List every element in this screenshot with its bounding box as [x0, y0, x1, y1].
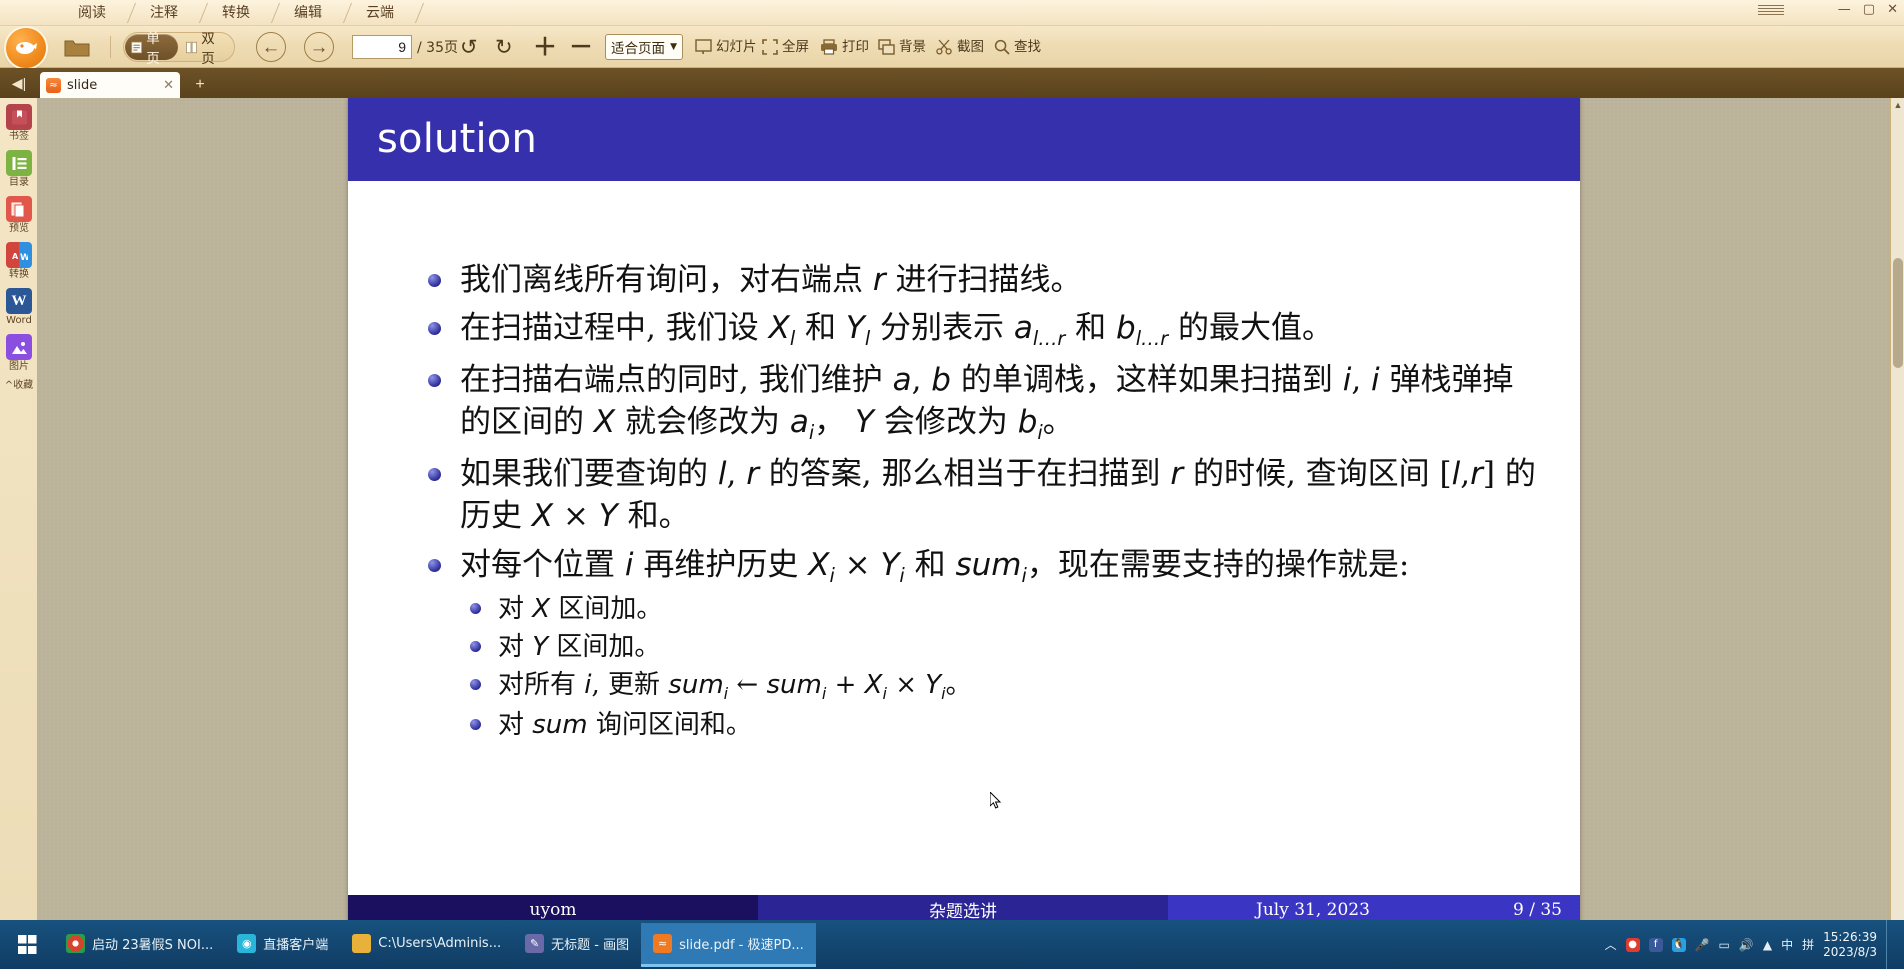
sidebar-label-outline: 目录: [0, 177, 38, 188]
toolbar-divider: [110, 36, 111, 58]
taskbar-clock[interactable]: 15:26:39 2023/8/3: [1823, 930, 1877, 960]
main-toolbar: 单页 双页 ← → 9 / 35页 ↺ ↻ ＋ － 适合页面 ▼ 幻灯片 全屏: [0, 26, 1904, 68]
taskbar-label: 无标题 - 画图: [551, 934, 629, 953]
sidebar-item-word[interactable]: W Word: [0, 288, 38, 326]
menu-tab-cloud[interactable]: 云端: [350, 0, 410, 26]
network-icon[interactable]: ▲: [1763, 938, 1772, 952]
slideshow-label: 幻灯片: [716, 34, 757, 60]
live-client-icon: ◉: [237, 934, 256, 953]
sidebar-item-convert[interactable]: AW 转换: [0, 242, 38, 280]
slide-title: solution: [348, 98, 1580, 181]
slideshow-button[interactable]: 幻灯片: [695, 34, 757, 60]
mic-icon[interactable]: 🎤: [1695, 938, 1710, 952]
outline-icon: [6, 150, 32, 176]
fullscreen-button[interactable]: 全屏: [762, 34, 809, 60]
sidebar-item-preview[interactable]: 预览: [0, 196, 38, 234]
maximize-icon[interactable]: ▢: [1863, 2, 1875, 17]
screenshot-label: 截图: [957, 34, 984, 60]
view-mode-single-page[interactable]: 单页: [125, 34, 178, 60]
window-drag-handle[interactable]: [1758, 5, 1784, 15]
sub-bullet-item: 对所有 i, 更新 sumi ← sumi + Xi × Yi。: [460, 667, 1540, 706]
bullet-list-level1: 我们离线所有询问，对右端点 r 进行扫描线。 在扫描过程中, 我们设 Xl 和 …: [420, 259, 1540, 744]
fullscreen-label: 全屏: [782, 34, 809, 60]
bullet-item: 在扫描过程中, 我们设 Xl 和 Yl 分别表示 al…r 和 bl…r 的最大…: [420, 307, 1540, 353]
page-total-label: / 35页: [417, 37, 458, 57]
sidebar-label-preview: 预览: [0, 223, 38, 234]
search-icon: [994, 39, 1010, 55]
bullet-item: 在扫描右端点的同时, 我们维护 a, b 的单调栈，这样如果扫描到 i, i 弹…: [420, 359, 1540, 447]
document-viewport[interactable]: solution 我们离线所有询问，对右端点 r 进行扫描线。 在扫描过程中, …: [38, 98, 1904, 951]
collapse-left-icon[interactable]: ◀|: [6, 73, 32, 93]
taskbar-item-chrome[interactable]: 启动 23暑假S NOI...: [54, 923, 225, 967]
bookmark-icon: [6, 104, 32, 130]
document-tab-bar: ◀| ≈ slide ✕ +: [0, 68, 1904, 98]
fullscreen-icon: [762, 39, 778, 55]
new-tab-button[interactable]: +: [190, 75, 210, 95]
sidebar-item-image[interactable]: 图片: [0, 334, 38, 372]
scrollbar-thumb[interactable]: [1893, 258, 1903, 368]
app-logo-icon: [6, 28, 46, 68]
minimize-icon[interactable]: —: [1838, 2, 1851, 17]
zoom-in-button[interactable]: ＋: [533, 34, 557, 60]
left-sidebar: 书签 目录 预览 AW 转换 W Word 图: [0, 98, 38, 951]
view-mode-single-label: 单页: [146, 27, 168, 67]
sidebar-label-favorites: ^收藏: [0, 380, 38, 391]
sub-bullet-item: 对 Y 区间加。: [460, 629, 1540, 666]
volume-icon[interactable]: 🔊: [1739, 938, 1754, 952]
image-icon: [6, 334, 32, 360]
next-page-button[interactable]: →: [304, 32, 334, 62]
thumbnails-icon: [6, 196, 32, 222]
favorites-icon: ^: [5, 380, 13, 391]
taskbar-item-explorer[interactable]: C:\Users\Adminis...: [340, 923, 513, 967]
pdf-reader-window: 阅读 注释 转换 编辑 云端 — ▢ ✕ 单页: [0, 0, 1904, 969]
sidebar-item-bookmarks[interactable]: 书签: [0, 104, 38, 142]
menu-tab-annotate[interactable]: 注释: [134, 0, 194, 26]
window-controls: — ▢ ✕: [1838, 2, 1898, 17]
find-button[interactable]: 查找: [994, 34, 1041, 60]
sidebar-label-word: Word: [0, 315, 38, 326]
print-label: 打印: [842, 34, 869, 60]
scroll-up-icon[interactable]: ▲: [1891, 98, 1904, 112]
clock-date: 2023/8/3: [1823, 945, 1877, 960]
word-icon: W: [6, 288, 32, 314]
chevron-up-icon[interactable]: ︿: [1605, 936, 1617, 953]
bullet-list-level2: 对 X 区间加。 对 Y 区间加。 对所有 i, 更新 sumi ← sumi …: [460, 591, 1540, 744]
bullet-item: 我们离线所有询问，对右端点 r 进行扫描线。: [420, 259, 1540, 301]
svg-text:A: A: [12, 252, 19, 261]
taskbar-label: 启动 23暑假S NOI...: [92, 934, 213, 953]
taskbar-item-live-client[interactable]: ◉ 直播客户端: [225, 923, 340, 967]
bullet-item: 对每个位置 i 再维护历史 Xi × Yi 和 sumi，现在需要支持的操作就是…: [420, 544, 1540, 744]
sidebar-label-bookmarks: 书签: [0, 131, 38, 142]
clock-time: 15:26:39: [1823, 930, 1877, 945]
pdf-page: solution 我们离线所有询问，对右端点 r 进行扫描线。 在扫描过程中, …: [348, 98, 1580, 924]
sub-bullet-item: 对 sum 询问区间和。: [460, 707, 1540, 744]
close-icon[interactable]: ✕: [1887, 2, 1898, 17]
windows-taskbar: 启动 23暑假S NOI... ◉ 直播客户端 C:\Users\Adminis…: [0, 920, 1904, 969]
find-label: 查找: [1014, 34, 1041, 60]
open-file-button[interactable]: [64, 34, 90, 60]
taskbar-item-pdf-reader[interactable]: ≈ slide.pdf - 极速PD...: [641, 923, 816, 967]
prev-page-button[interactable]: ←: [256, 32, 286, 62]
screenshot-button[interactable]: 截图: [936, 34, 984, 60]
slideshow-icon: [695, 39, 712, 55]
document-tab-label: slide: [67, 78, 97, 93]
bullet-text: 对每个位置 i 再维护历史 Xi × Yi 和 sumi，现在需要支持的操作就是…: [460, 547, 1409, 583]
sidebar-item-favorites[interactable]: ^收藏: [0, 380, 38, 391]
chrome-icon: [66, 934, 85, 953]
taskbar-label: C:\Users\Adminis...: [378, 936, 501, 951]
show-desktop-button[interactable]: [1886, 920, 1894, 969]
chevron-down-icon: ▼: [670, 42, 677, 52]
close-tab-icon[interactable]: ✕: [163, 78, 174, 93]
windows-start-icon[interactable]: [0, 920, 54, 969]
menu-tab-edit[interactable]: 编辑: [278, 0, 338, 26]
view-mode-double-label: 双页: [201, 27, 223, 67]
svg-text:W: W: [20, 253, 28, 263]
background-button[interactable]: 背景: [878, 34, 926, 60]
folder-icon: [352, 934, 371, 953]
zoom-out-button[interactable]: －: [569, 34, 593, 60]
menu-strip: 阅读 注释 转换 编辑 云端 — ▢ ✕: [0, 0, 1904, 26]
taskbar-label: slide.pdf - 极速PD...: [679, 934, 804, 953]
double-page-icon: [186, 40, 197, 55]
ime-mode-icon[interactable]: 拼: [1802, 936, 1814, 953]
menu-tab-convert[interactable]: 转换: [206, 0, 266, 26]
single-page-icon: [131, 40, 142, 55]
ime-cn-icon[interactable]: 中: [1781, 936, 1793, 953]
sidebar-label-convert: 转换: [0, 269, 38, 280]
view-mode-group: 单页 双页: [123, 32, 235, 62]
sidebar-item-outline[interactable]: 目录: [0, 150, 38, 188]
printer-icon: [820, 39, 838, 55]
zoom-mode-select[interactable]: 适合页面 ▼: [605, 34, 683, 60]
qq-icon[interactable]: 🐧: [1672, 938, 1686, 952]
sub-bullet-item: 对 X 区间加。: [460, 591, 1540, 628]
background-icon: [878, 39, 895, 55]
folder-icon: [64, 36, 90, 58]
rotate-left-button[interactable]: ↺: [460, 34, 478, 60]
record-icon[interactable]: ●: [1626, 938, 1640, 952]
facebook-icon[interactable]: f: [1649, 938, 1663, 952]
background-label: 背景: [899, 34, 926, 60]
slide-body: 我们离线所有询问，对右端点 r 进行扫描线。 在扫描过程中, 我们设 Xl 和 …: [348, 181, 1580, 841]
taskbar-label: 直播客户端: [263, 934, 328, 953]
pdf-app-icon: ≈: [653, 934, 672, 953]
page-number-input[interactable]: 9: [352, 35, 412, 59]
document-tab-slide[interactable]: ≈ slide ✕: [40, 72, 180, 98]
paint-icon: ✎: [525, 934, 544, 953]
view-mode-double-page[interactable]: 双页: [180, 34, 233, 60]
vertical-scrollbar[interactable]: ▲ ▼: [1890, 98, 1904, 951]
pdf-app-icon: ≈: [46, 78, 61, 93]
rotate-right-button[interactable]: ↻: [495, 34, 513, 60]
menu-tab-read[interactable]: 阅读: [62, 0, 122, 26]
sidebar-label-image: 图片: [0, 361, 38, 372]
system-tray: ︿ ● f 🐧 🎤 ▭ 🔊 ▲ 中 拼 15:26:39 2023/8/3: [1605, 920, 1904, 969]
taskbar-item-paint[interactable]: ✎ 无标题 - 画图: [513, 923, 641, 967]
print-button[interactable]: 打印: [820, 34, 869, 60]
scissors-icon: [936, 39, 953, 55]
convert-pdf-to-word-icon: AW: [6, 242, 32, 268]
monitor-icon[interactable]: ▭: [1719, 938, 1730, 952]
zoom-mode-label: 适合页面: [611, 37, 665, 57]
bullet-item: 如果我们要查询的 l, r 的答案, 那么相当于在扫描到 r 的时候, 查询区间…: [420, 453, 1540, 538]
